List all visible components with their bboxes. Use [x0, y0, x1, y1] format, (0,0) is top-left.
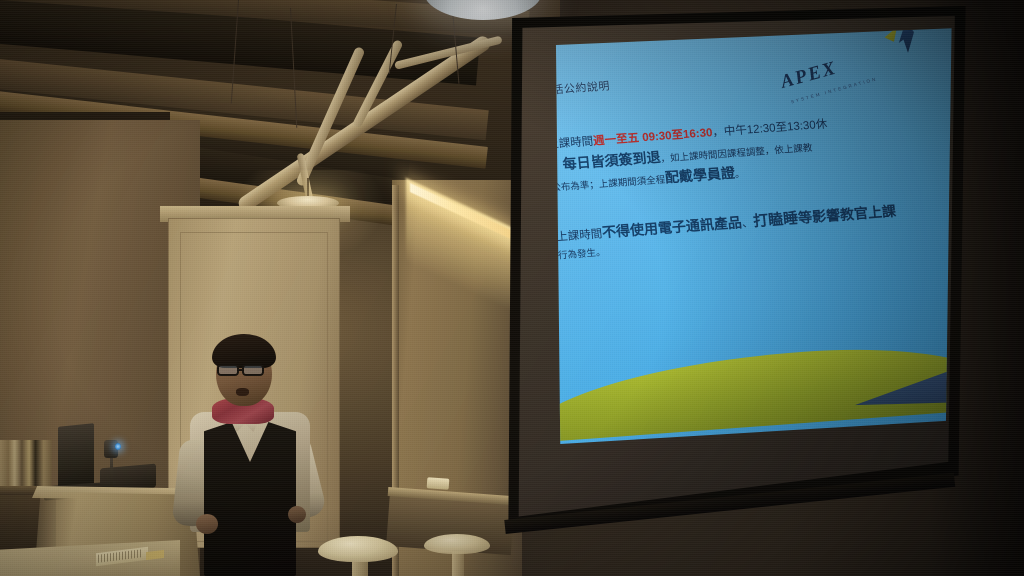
glasses-left-lens [217, 364, 239, 376]
glasses-bridge [239, 369, 244, 371]
bullet-1-line2-red: 每日皆須簽到退 [562, 148, 661, 171]
microphone-led-indicator [115, 443, 121, 450]
bullet-1-line2-rest: ，如上課時間因課程調整，依上課教 [660, 142, 813, 164]
books [0, 440, 52, 492]
pendant-rod [307, 178, 309, 198]
slide-bullet-1: 1.上課時間週一至五 09:30至16:30，中午12:30至13:30休 息。… [537, 108, 946, 199]
bullet-1-line1-time: 09:30至16:30 [642, 127, 713, 144]
bullet-1-line1-red: 週一至五 [593, 132, 640, 147]
slide-bullet-2: 2.上課時間不得使用電子通訊產品、打瞌睡等影響教官上課 之行為發生。 [546, 196, 953, 266]
projected-slide: APEX SYSTEM INTEGRATION 生活公約說明 1.上課時間週一至… [528, 24, 958, 444]
bullet-1-line3: 官公布為準；上課期間須全程 [541, 175, 665, 195]
bar-stool-back-seat[interactable] [424, 534, 490, 554]
apex-logo: APEX SYSTEM INTEGRATION [773, 24, 930, 113]
projection-screen: APEX SYSTEM INTEGRATION 生活公約說明 1.上課時間週一至… [498, 6, 968, 552]
classroom-scene: APEX SYSTEM INTEGRATION 生活公約說明 1.上課時間週一至… [0, 0, 1024, 576]
presenter-mouth [236, 388, 249, 396]
glasses-right-lens [242, 364, 264, 376]
bullet-2-line1-prefix: 上課時間 [556, 228, 603, 243]
bar-stool-back-post [452, 552, 464, 576]
bullet-1-line3-em: 配戴學員證 [664, 165, 735, 186]
bullet-1-line1-rest: ，中午12:30至13:30休 [712, 118, 828, 138]
remote-control[interactable] [427, 477, 450, 490]
bullet-2-line1-em: 不得使用電子通訊產品 [601, 214, 742, 240]
presenter [168, 330, 348, 576]
bullet-1-line3-tail: 。 [735, 169, 746, 181]
slide-content: APEX SYSTEM INTEGRATION 生活公約說明 1.上課時間週一至… [528, 24, 958, 444]
presenter-hair [212, 334, 276, 368]
presenter-left-hand [196, 514, 218, 534]
bullet-2-line1-em2: 打瞌睡 [752, 210, 799, 230]
presenter-right-hand [288, 506, 306, 523]
bullet-2-line1-rest: 等影響教官上課 [797, 203, 896, 226]
